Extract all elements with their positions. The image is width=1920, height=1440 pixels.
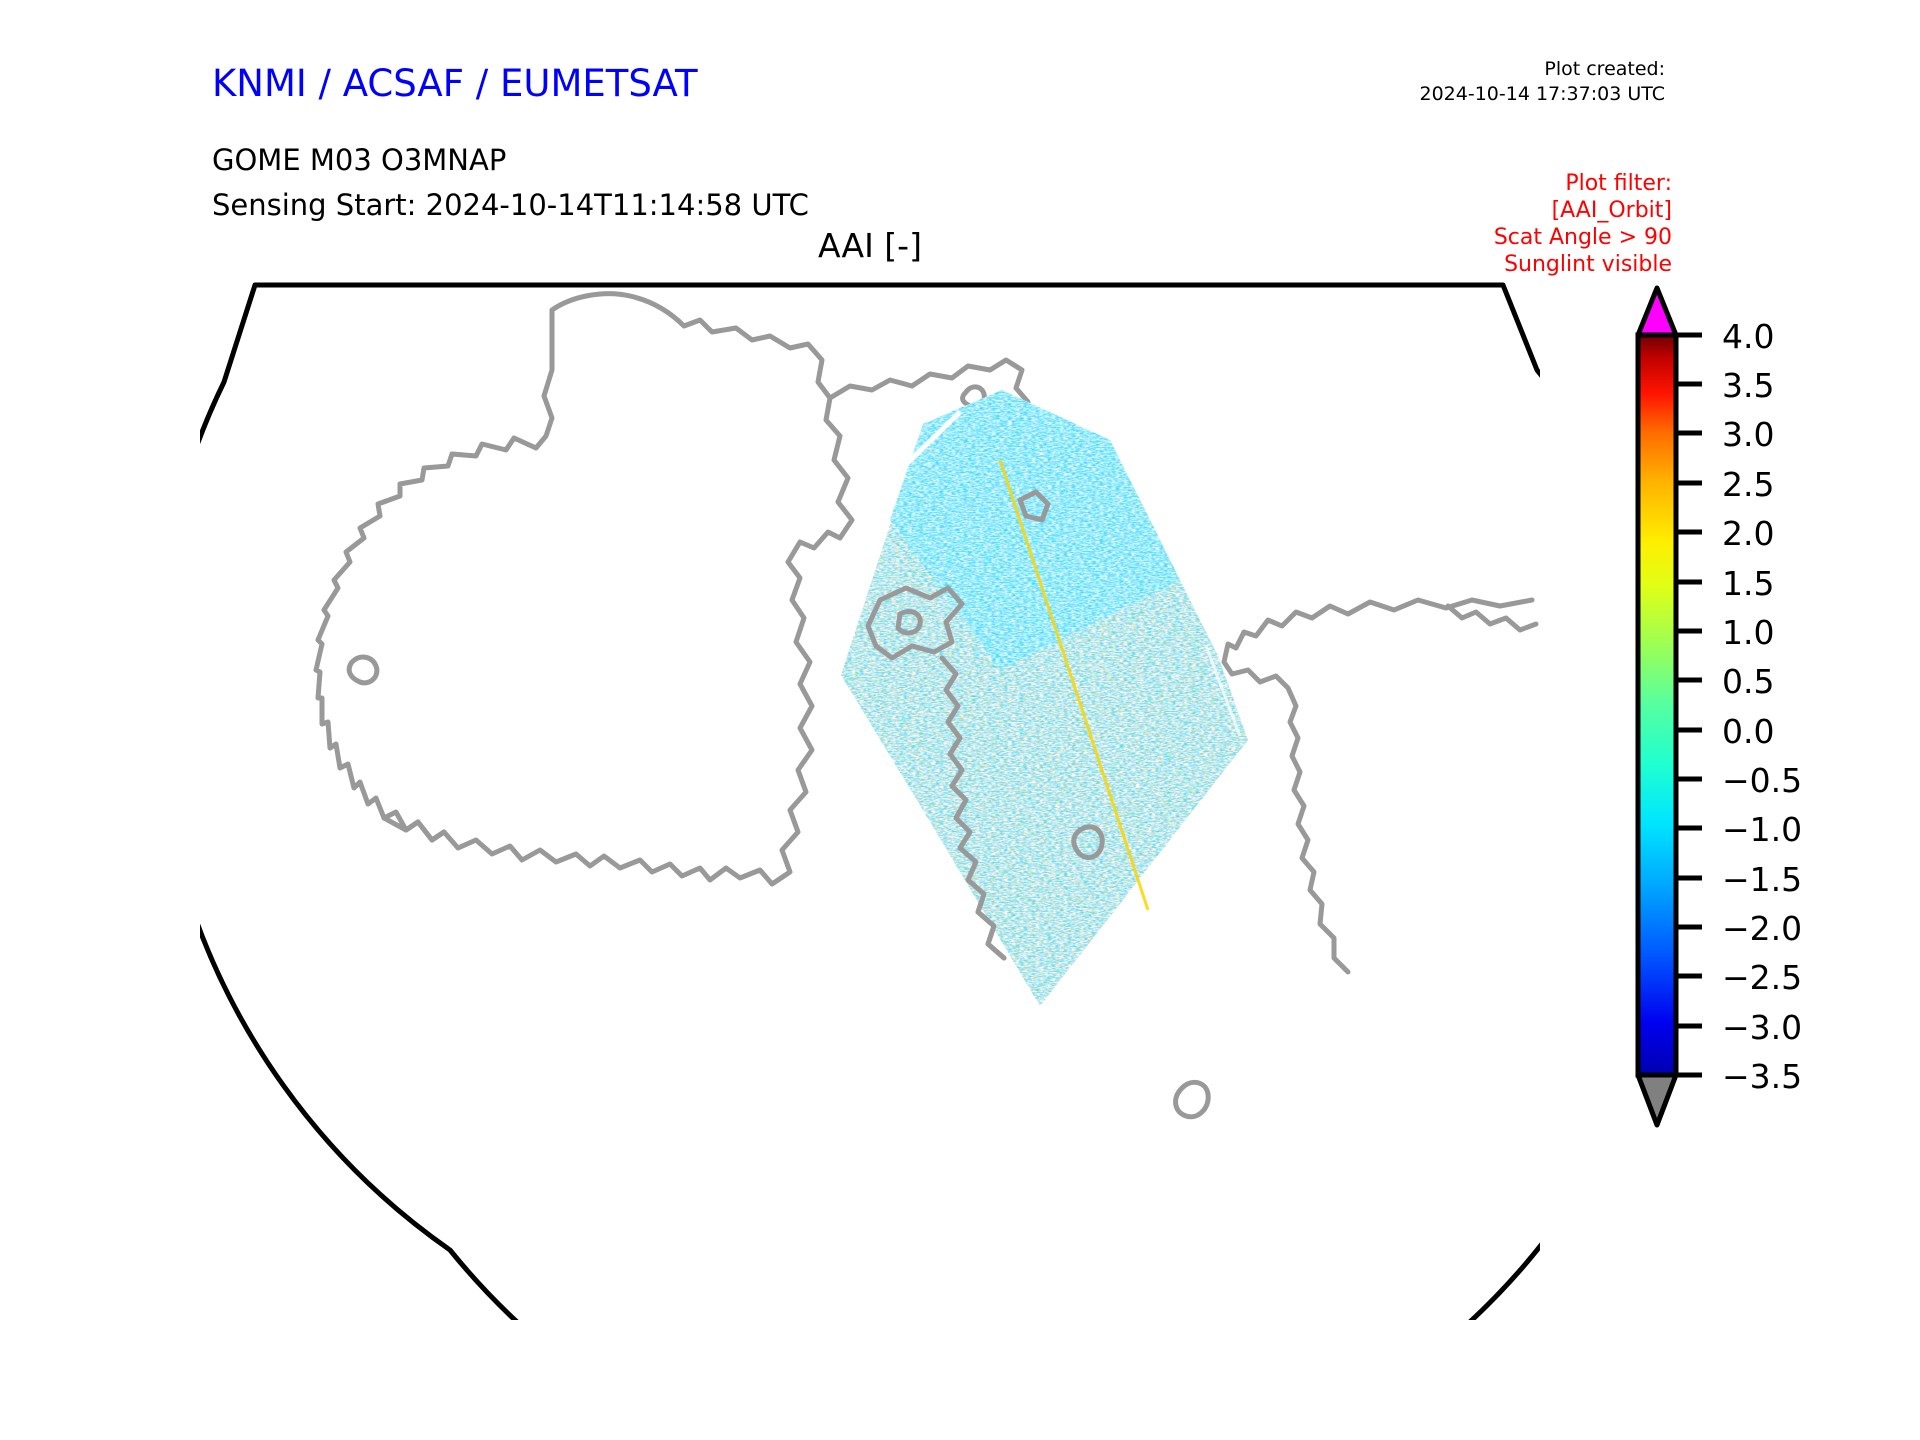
- colorbar-tick-label: 0.5: [1722, 662, 1774, 701]
- colorbar-gradient: [1638, 335, 1676, 1075]
- plot-created-block: Plot created: 2024-10-14 17:37:03 UTC: [1420, 57, 1666, 107]
- plot-filter-name: [AAI_Orbit]: [1494, 197, 1672, 224]
- colorbar-tick-label: 1.5: [1722, 564, 1774, 603]
- colorbar[interactable]: 4.0 3.5 3.0 2.5 2.0 1.5 1.0 0.5 0.0 −0.5…: [1630, 280, 1910, 1390]
- colorbar-tick-label: 2.5: [1722, 465, 1774, 504]
- colorbar-under-arrow: [1638, 1075, 1676, 1125]
- colorbar-tick-label: −3.0: [1722, 1008, 1802, 1047]
- colorbar-tick-label: 2.0: [1722, 514, 1774, 553]
- map-figure: [200, 270, 1540, 1320]
- colorbar-tick-label: −2.0: [1722, 909, 1802, 948]
- map-panel: [200, 270, 1540, 1320]
- plot-created-label: Plot created:: [1420, 57, 1666, 82]
- org-title: KNMI / ACSAF / EUMETSAT: [212, 62, 698, 105]
- plot-filter-label: Plot filter:: [1494, 170, 1672, 197]
- colorbar-figure: 4.0 3.5 3.0 2.5 2.0 1.5 1.0 0.5 0.0 −0.5…: [1630, 280, 1910, 1390]
- colorbar-tick-labels: 4.0 3.5 3.0 2.5 2.0 1.5 1.0 0.5 0.0 −0.5…: [1722, 317, 1802, 1096]
- colorbar-tick-label: 4.0: [1722, 317, 1774, 356]
- map-background: [200, 285, 1540, 1320]
- colorbar-tick-label: −0.5: [1722, 761, 1802, 800]
- plot-created-value: 2024-10-14 17:37:03 UTC: [1420, 82, 1666, 107]
- colorbar-tick-label: −1.0: [1722, 810, 1802, 849]
- colorbar-tick-label: −1.5: [1722, 860, 1802, 899]
- plot-title: AAI [-]: [0, 226, 1740, 265]
- sensing-start: Sensing Start: 2024-10-14T11:14:58 UTC: [212, 188, 809, 222]
- colorbar-tick-label: −2.5: [1722, 958, 1802, 997]
- colorbar-ticks: [1676, 335, 1702, 1075]
- colorbar-tick-label: −3.5: [1722, 1057, 1802, 1096]
- colorbar-tick-label: 3.5: [1722, 366, 1774, 405]
- colorbar-over-arrow: [1638, 288, 1676, 335]
- product-name: GOME M03 O3MNAP: [212, 143, 506, 177]
- colorbar-tick-label: 1.0: [1722, 613, 1774, 652]
- colorbar-tick-label: 0.0: [1722, 712, 1774, 751]
- colorbar-tick-label: 3.0: [1722, 415, 1774, 454]
